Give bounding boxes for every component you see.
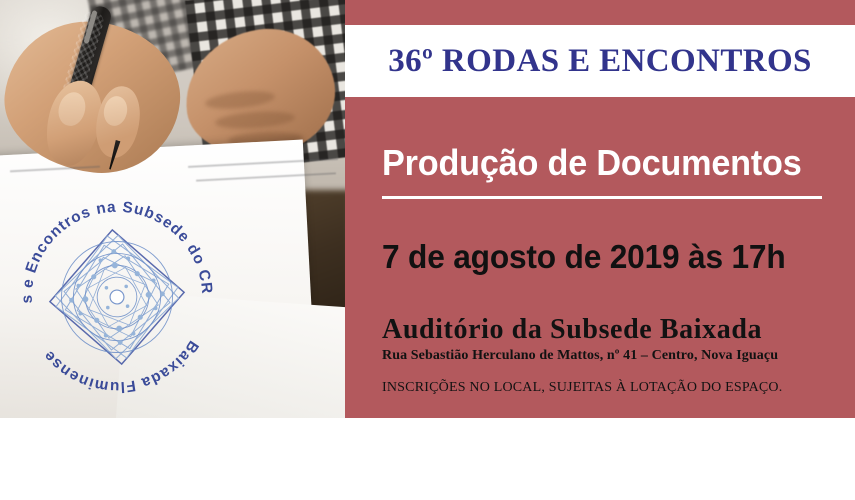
registration-note: INSCRIÇÕES NO LOCAL, SUJEITAS À LOTAÇÃO … [382,380,782,396]
event-subject: Produção de Documentos [382,142,805,184]
photo-hand-writing: Rodas e Encontros na Subsede do CRP-RJ B… [0,0,345,418]
title-band: 36º RODAS E ENCONTROS [345,25,855,97]
svg-text:Baixada Fluminense: Baixada Fluminense [39,336,205,400]
event-title: 36º RODAS E ENCONTROS [388,43,812,80]
event-datetime: 7 de agosto de 2019 às 17h [382,238,786,276]
subject-underline-rule [382,196,822,199]
stamp-text-bottom: Baixada Fluminense [39,336,205,400]
event-address: Rua Sebastião Herculano de Mattos, nº 41… [382,348,778,364]
event-venue: Auditório da Subsede Baixada [382,314,762,346]
rodas-encontros-stamp-logo: Rodas e Encontros na Subsede do CRP-RJ B… [1,181,234,414]
footer: REALIZAÇÃO CRP·RJ CONSELHO REGIONAL DE P… [0,418,855,500]
event-banner: Rodas e Encontros na Subsede do CRP-RJ B… [0,0,855,500]
